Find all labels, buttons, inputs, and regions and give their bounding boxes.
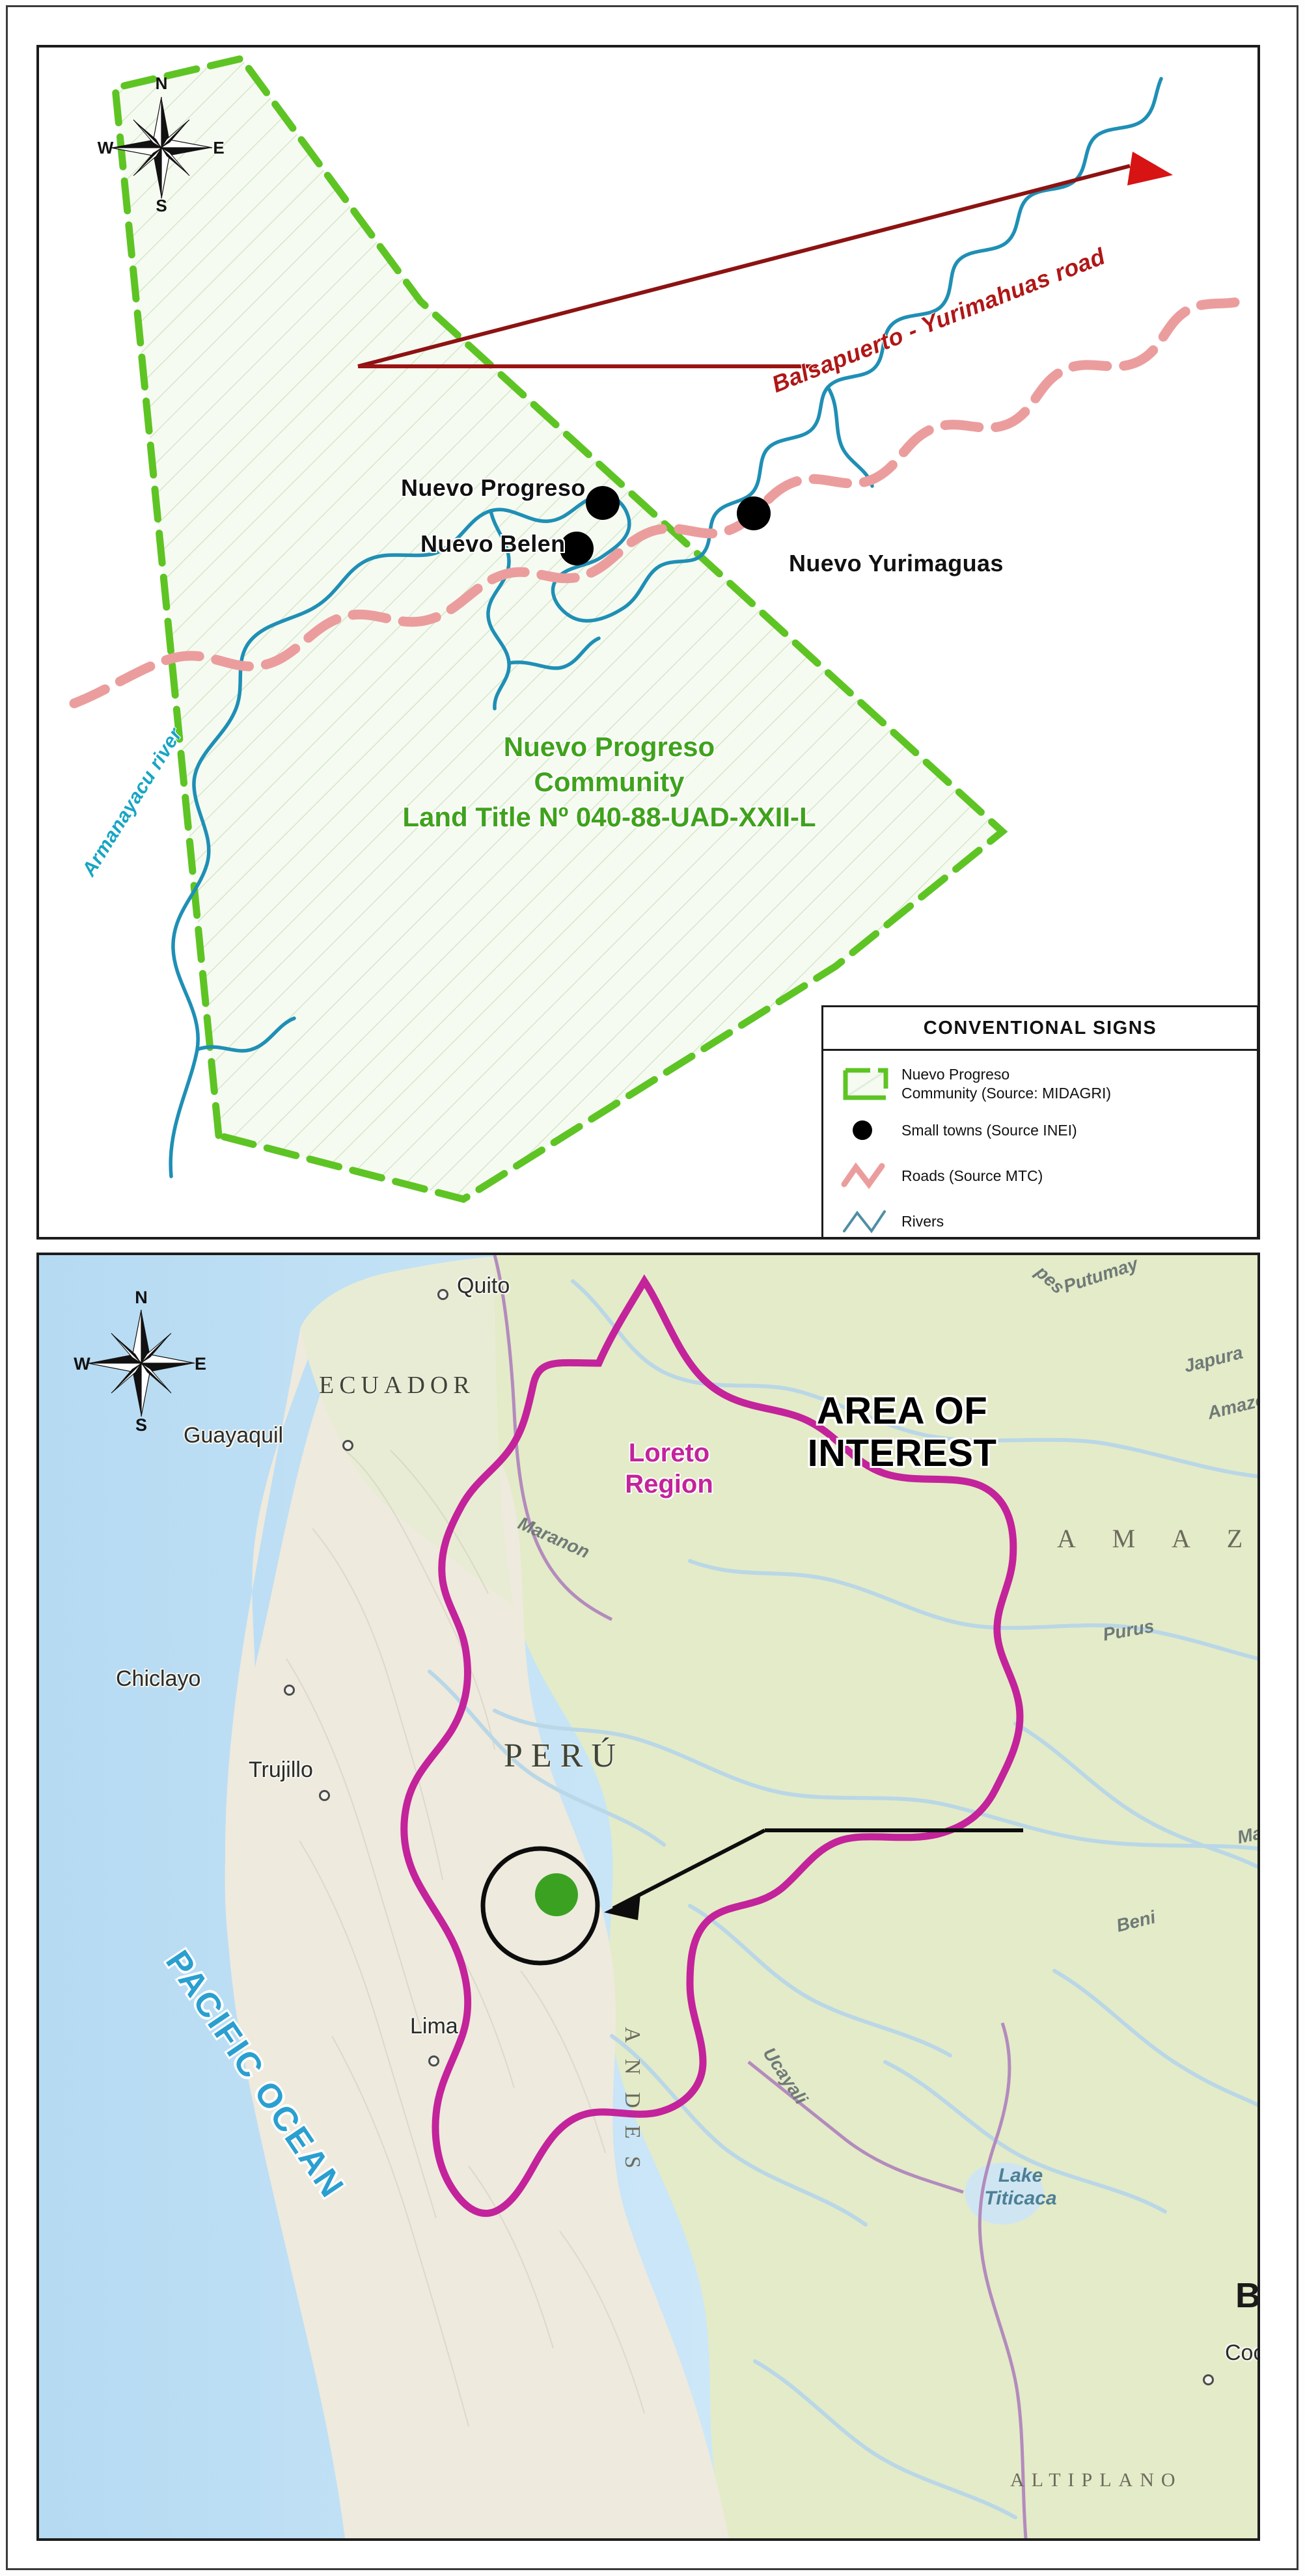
blue-zigzag-line-icon bbox=[842, 1204, 901, 1239]
compass-east-label-locator: E bbox=[195, 1354, 206, 1374]
community-title-line1: Nuevo Progreso bbox=[401, 729, 817, 765]
compass-rose-locator: N S E W bbox=[73, 1284, 210, 1433]
region-label-loreto: Loreto Region bbox=[584, 1437, 754, 1500]
city-dot-cochabamba bbox=[1203, 2374, 1214, 2385]
city-dot-lima bbox=[428, 2055, 439, 2067]
city-label-lima: Lima bbox=[410, 2014, 458, 2039]
community-title-block: Nuevo Progreso Community Land Title Nº 0… bbox=[401, 729, 817, 834]
town-label-nuevo-progreso: Nuevo Progreso bbox=[401, 474, 586, 502]
legend-item-rivers: Rivers bbox=[842, 1204, 1257, 1239]
town-label-nuevo-belen: Nuevo Belen bbox=[420, 530, 565, 558]
detail-map-panel: N S E W Nuevo Progreso Nuevo Belen Nuevo… bbox=[36, 45, 1260, 1240]
compass-north-label: N bbox=[156, 74, 168, 93]
community-title-line2: Community bbox=[401, 765, 817, 800]
aoi-line1: AREA OF bbox=[765, 1390, 1039, 1433]
compass-south-label-locator: S bbox=[135, 1415, 147, 1435]
page-frame: N S E W Nuevo Progreso Nuevo Belen Nuevo… bbox=[6, 5, 1298, 2570]
lake-label-line2: Titicaca bbox=[955, 2188, 1086, 2210]
legend-community-line1: Nuevo Progreso bbox=[901, 1065, 1111, 1084]
legend-item-towns-label: Small towns (Source INEI) bbox=[901, 1121, 1077, 1140]
city-dot-chiclayo bbox=[284, 1685, 295, 1696]
locator-map-panel: N S E W Quito Guayaquil Chiclayo Trujill… bbox=[36, 1253, 1260, 2541]
region-label-line1: Loreto bbox=[584, 1437, 754, 1469]
country-label-peru: PERÚ bbox=[504, 1737, 624, 1775]
legend-item-community-label: Nuevo Progreso Community (Source: MIDAGR… bbox=[901, 1065, 1111, 1102]
city-dot-guayaquil bbox=[342, 1440, 353, 1451]
city-label-cochabamba: Coch bbox=[1225, 2340, 1260, 2366]
compass-east-label: E bbox=[213, 138, 224, 157]
country-label-bolivia: B bbox=[1235, 2275, 1260, 2316]
legend-item-towns: Small towns (Source INEI) bbox=[842, 1113, 1257, 1148]
aoi-line2: INTEREST bbox=[765, 1433, 1039, 1475]
legend-item-roads-label: Roads (Source MTC) bbox=[901, 1167, 1043, 1186]
legend-items: Nuevo Progreso Community (Source: MIDAGR… bbox=[823, 1051, 1257, 1239]
city-dot-quito bbox=[437, 1289, 448, 1300]
range-label-andes: A N D E S bbox=[620, 2027, 644, 2174]
town-label-nuevo-yurimaguas: Nuevo Yurimaguas bbox=[789, 550, 1004, 577]
city-label-guayaquil: Guayaquil bbox=[184, 1423, 283, 1448]
pink-zigzag-line-icon bbox=[842, 1158, 901, 1193]
legend-community-line2: Community (Source: MIDAGRI) bbox=[901, 1084, 1111, 1103]
country-label-ecuador: ECUADOR bbox=[319, 1371, 475, 1400]
compass-south-label: S bbox=[156, 196, 167, 215]
black-dot-icon bbox=[842, 1113, 901, 1148]
range-label-amazonia: A M A Z bbox=[1057, 1523, 1258, 1554]
community-title-line3: Land Title Nº 040-88-UAD-XXII-L bbox=[401, 800, 817, 835]
road-annotation-arrow bbox=[358, 152, 1173, 366]
river-label-ma: Ma bbox=[1235, 1823, 1260, 1848]
legend-box: CONVENTIONAL SIGNS Nuevo Progreso bbox=[821, 1005, 1259, 1240]
city-label-quito: Quito bbox=[457, 1273, 510, 1299]
city-label-chiclayo: Chiclayo bbox=[116, 1666, 200, 1692]
polygon-hatched-green-icon bbox=[842, 1066, 901, 1102]
compass-west-label-locator: W bbox=[74, 1354, 90, 1374]
area-of-interest-label: AREA OF INTEREST bbox=[765, 1390, 1039, 1475]
range-label-altiplano: ALTIPLANO bbox=[1010, 2469, 1183, 2491]
compass-west-label: W bbox=[98, 138, 114, 157]
region-label-line2: Region bbox=[584, 1469, 754, 1500]
city-label-trujillo: Trujillo bbox=[249, 1757, 313, 1783]
legend-item-community: Nuevo Progreso Community (Source: MIDAGR… bbox=[842, 1065, 1257, 1102]
legend-title: CONVENTIONAL SIGNS bbox=[823, 1007, 1257, 1051]
compass-north-label-locator: N bbox=[135, 1288, 148, 1307]
legend-item-roads: Roads (Source MTC) bbox=[842, 1158, 1257, 1193]
lake-label-titicaca: Lake Titicaca bbox=[955, 2165, 1086, 2210]
city-dot-trujillo bbox=[319, 1790, 330, 1801]
compass-rose-detail: N S E W bbox=[96, 71, 227, 214]
legend-item-rivers-label: Rivers bbox=[901, 1212, 944, 1231]
lake-label-line1: Lake bbox=[955, 2165, 1086, 2188]
